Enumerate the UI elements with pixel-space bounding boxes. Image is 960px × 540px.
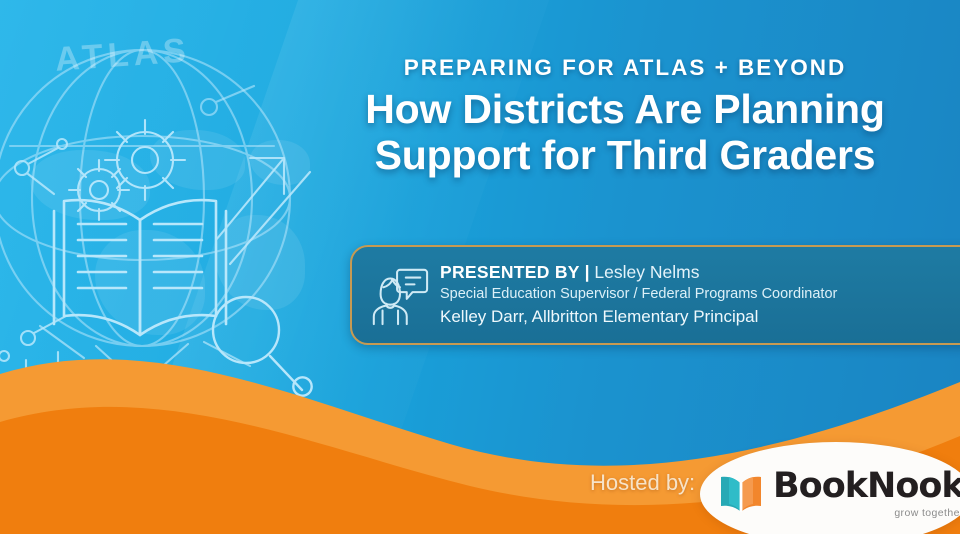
gear-icon — [69, 160, 129, 220]
gear-icon — [105, 120, 185, 200]
hosted-by-label: Hosted by: — [590, 470, 695, 496]
presenter-role: Special Education Supervisor / Federal P… — [440, 284, 837, 304]
booknook-tagline: grow together — [773, 508, 960, 519]
network-node-icon — [15, 139, 67, 194]
presented-by-label: PRESENTED BY — [440, 262, 580, 282]
bottom-white-strip — [0, 534, 960, 540]
booknook-book-icon — [718, 474, 764, 514]
eyebrow-text: PREPARING FOR ATLAS + BEYOND — [300, 56, 950, 81]
webinar-title-slide: ATLAS PREPARING FOR ATLAS + BEYOND How D… — [0, 0, 960, 534]
presenter-name: Lesley Nelms — [594, 262, 699, 282]
network-node-icon — [201, 86, 254, 115]
title-block: PREPARING FOR ATLAS + BEYOND How Distric… — [300, 56, 950, 179]
presented-by-separator: | — [585, 262, 590, 282]
booknook-wordmark: BookNook grow together — [773, 469, 960, 519]
title-line-1: How Districts Are Planning — [300, 87, 950, 133]
title-line-2: Support for Third Graders — [300, 133, 950, 179]
presented-by-line: PRESENTED BY | Lesley Nelms — [440, 261, 837, 285]
page-title: How Districts Are Planning Support for T… — [300, 87, 950, 179]
booknook-name: BookNook — [773, 469, 960, 504]
